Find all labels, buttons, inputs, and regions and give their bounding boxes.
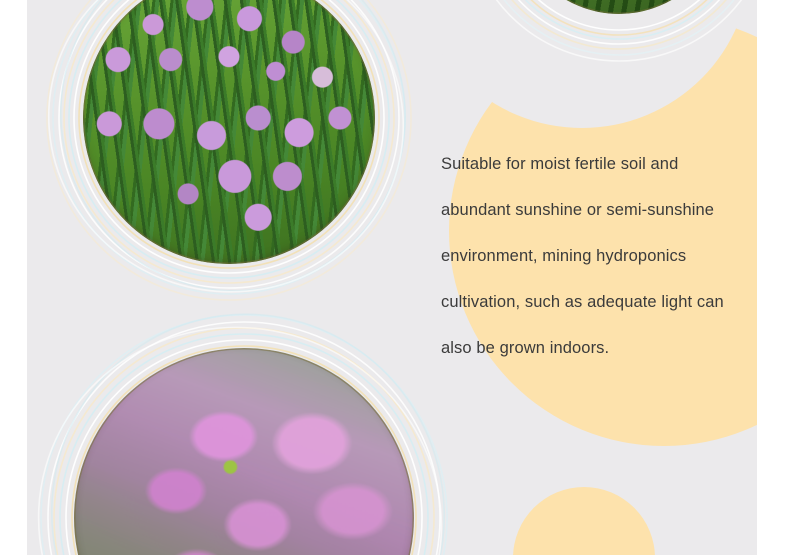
left-margin bbox=[0, 0, 27, 555]
page-root: Suitable for moist fertile soil and abun… bbox=[0, 0, 800, 555]
photo-green-top-image bbox=[513, 0, 725, 14]
decor-blob-small bbox=[513, 487, 655, 555]
content-panel: Suitable for moist fertile soil and abun… bbox=[27, 0, 757, 555]
right-margin bbox=[757, 0, 800, 555]
photo-chives-field-image bbox=[83, 0, 375, 264]
photo-allium-closeup-image bbox=[74, 348, 414, 555]
description-text: Suitable for moist fertile soil and abun… bbox=[441, 141, 757, 371]
photo-chives-field bbox=[83, 0, 375, 264]
photo-frame-allium-closeup bbox=[34, 308, 454, 555]
photo-green-top bbox=[513, 0, 725, 14]
photo-frame-green-top bbox=[456, 0, 757, 71]
photo-frame-chives-field bbox=[36, 0, 422, 311]
photo-allium-closeup bbox=[74, 348, 414, 555]
